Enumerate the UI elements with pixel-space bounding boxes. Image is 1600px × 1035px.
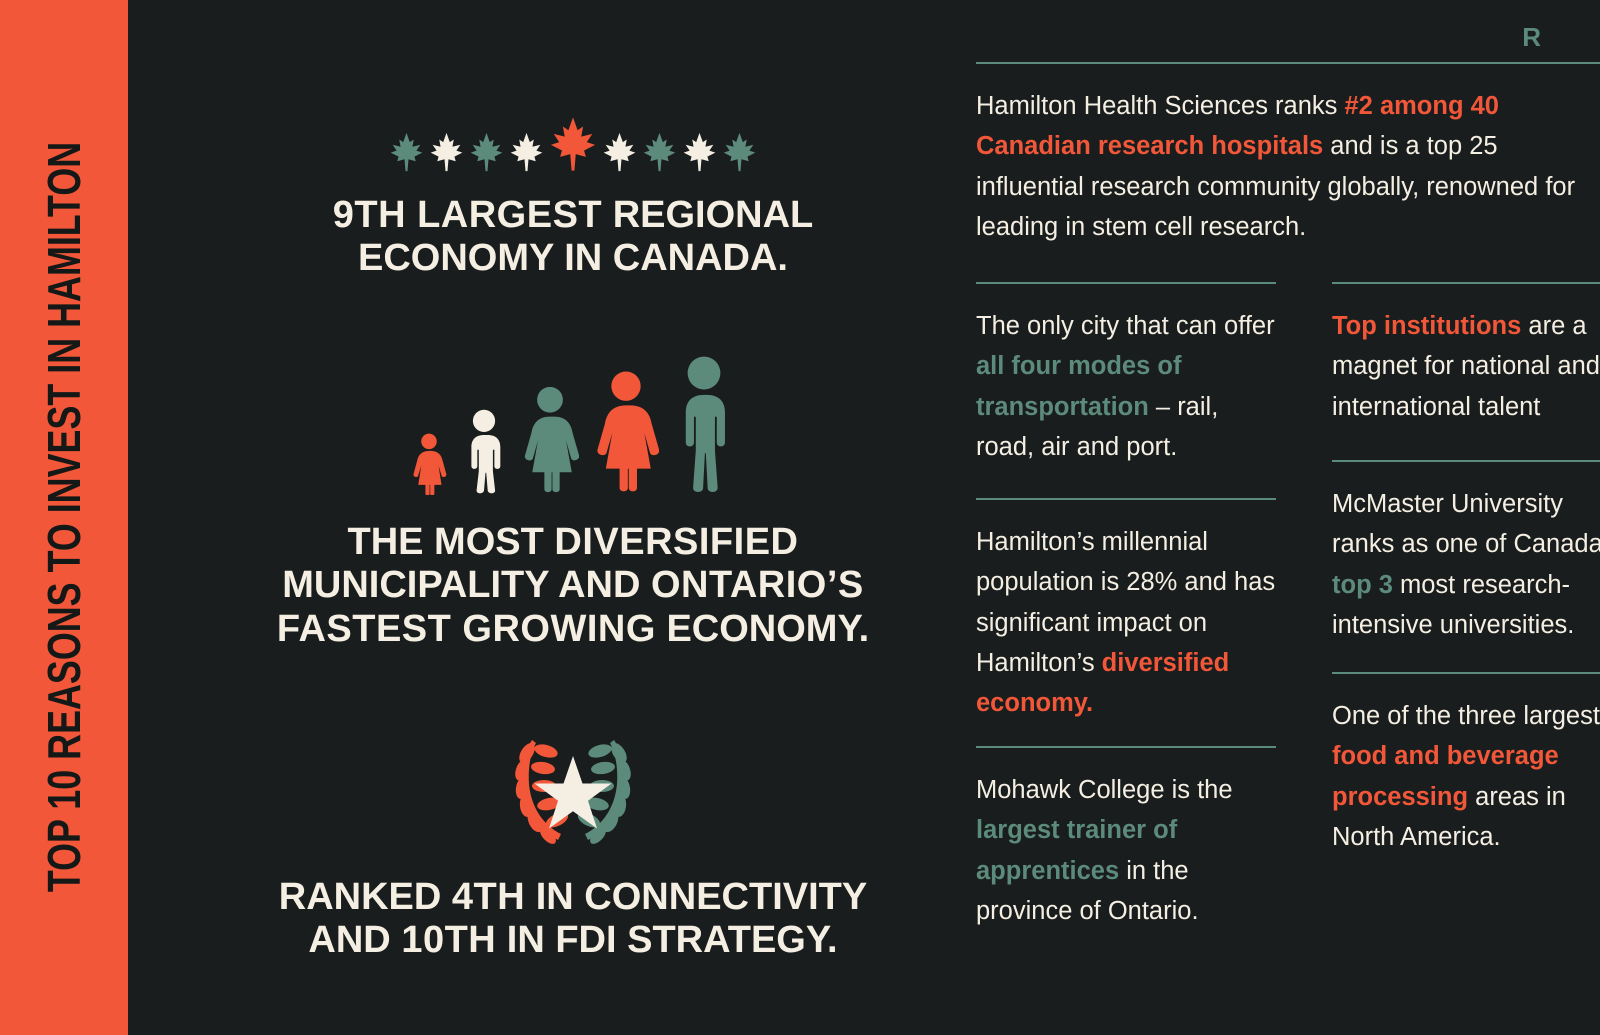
sidebar-title-container: TOP 10 REASONS TO INVEST IN HAMILTON [37, 36, 91, 998]
fact-card-body: McMaster University ranks as one of Cana… [1332, 462, 1600, 645]
laurel-wreath-row [228, 722, 918, 852]
person-icon-boy [461, 409, 507, 495]
fact-text-part: McMaster University ranks as one of Cana… [1332, 490, 1600, 558]
person-icon-woman-highlight [593, 369, 659, 495]
main-canvas: R 9TH LARGEST REGIONAL ECONOMY IN [128, 0, 1600, 1035]
maple-leaf-icon [643, 132, 676, 172]
maple-leaf-icon [430, 132, 463, 172]
maple-leaf-icon [470, 132, 503, 172]
fact-card-mcmaster-university: McMaster University ranks as one of Cana… [1332, 460, 1600, 645]
person-icon-man [673, 355, 735, 495]
fact-card-body: Mohawk College is the largest trainer of… [976, 748, 1276, 931]
maple-leaf-icon [723, 132, 756, 172]
headline-part-narrow: AND [308, 919, 401, 961]
fact-card-top-institutions: Top institutions are a magnet for nation… [1332, 282, 1600, 427]
fact-text-part: Hamilton Health Sciences ranks [976, 92, 1345, 120]
fact-card-body: Hamilton Health Sciences ranks #2 among … [976, 64, 1600, 247]
headline-part-narrow: IN CONNECTIVITY [525, 876, 867, 918]
fact-card-millennial-population: Hamilton’s millennial population is 28% … [976, 498, 1276, 723]
fact-card-body: Hamilton’s millennial population is 28% … [976, 500, 1276, 723]
maple-leaf-icon [603, 132, 636, 172]
headline-part-wide: ONTARIO’S [651, 564, 864, 606]
maple-leaf-icon [390, 132, 423, 172]
headline-part-narrow: REGIONAL [602, 194, 813, 236]
headline-part-narrow: RANKED [279, 876, 452, 918]
maple-leaf-icon-highlight [550, 116, 596, 172]
headline-part-narrow: IN FDI STRATEGY. [496, 919, 837, 961]
headline-part-narrow: THE MOST [348, 521, 555, 563]
stat-headline-connectivity-ranking: RANKED 4TH IN CONNECTIVITY AND 10TH IN F… [228, 876, 918, 963]
fact-text-highlight: top 3 [1332, 571, 1393, 599]
headline-part-narrow: ECONOMY IN CANADA. [358, 237, 788, 279]
maple-leaf-icon [510, 132, 543, 172]
maple-leaf-row [228, 92, 918, 172]
headline-part-narrow: MUNICIPALITY AND [282, 564, 651, 606]
laurel-wreath-star-icon [488, 726, 658, 848]
people-row [228, 355, 918, 495]
headline-part-wide: 9TH LARGEST [333, 194, 602, 236]
fact-card-body: One of the three largest food and bevera… [1332, 674, 1600, 857]
headline-part-wide: FASTEST GROWING [277, 608, 656, 650]
sidebar-rail: TOP 10 REASONS TO INVEST IN HAMILTON [0, 0, 128, 1035]
stat-block-diversified-municipality: THE MOST DIVERSIFIED MUNICIPALITY AND ON… [228, 355, 918, 651]
fact-text-part: The only city that can offer [976, 312, 1275, 340]
fact-card-mohawk-college: Mohawk College is the largest trainer of… [976, 746, 1276, 931]
headline-part-wide: 10TH [401, 919, 496, 961]
stat-headline-regional-economy: 9TH LARGEST REGIONAL ECONOMY IN CANADA. [228, 194, 918, 281]
headline-part-wide: 4TH [452, 876, 525, 918]
fact-card-food-beverage-processing: One of the three largest food and bevera… [1332, 672, 1600, 857]
left-statements-panel: 9TH LARGEST REGIONAL ECONOMY IN CANADA. [228, 0, 918, 1035]
fact-card-hamilton-health-sciences: Hamilton Health Sciences ranks #2 among … [976, 62, 1600, 247]
fact-card-body: Top institutions are a magnet for nation… [1332, 284, 1600, 427]
person-icon-woman [521, 385, 579, 495]
fact-card-body: The only city that can offer all four mo… [976, 284, 1276, 467]
headline-part-narrow: ECONOMY. [656, 608, 869, 650]
fact-text-part: One of the three largest [1332, 702, 1600, 730]
stat-block-connectivity-ranking: RANKED 4TH IN CONNECTIVITY AND 10TH IN F… [228, 722, 918, 963]
person-icon-girl [411, 433, 447, 495]
maple-leaf-icon [683, 132, 716, 172]
fact-card-four-modes-transportation: The only city that can offer all four mo… [976, 282, 1276, 467]
stat-headline-diversified-municipality: THE MOST DIVERSIFIED MUNICIPALITY AND ON… [228, 521, 918, 651]
fact-text-part: Mohawk College is the [976, 776, 1233, 804]
headline-part-wide: DIVERSIFIED [554, 521, 798, 563]
sidebar-title: TOP 10 REASONS TO INVEST IN HAMILTON [37, 142, 91, 892]
right-facts-panel: Hamilton Health Sciences ranks #2 among … [976, 0, 1600, 1035]
fact-text-highlight: Top institutions [1332, 312, 1521, 340]
stat-block-regional-economy: 9TH LARGEST REGIONAL ECONOMY IN CANADA. [228, 92, 918, 281]
